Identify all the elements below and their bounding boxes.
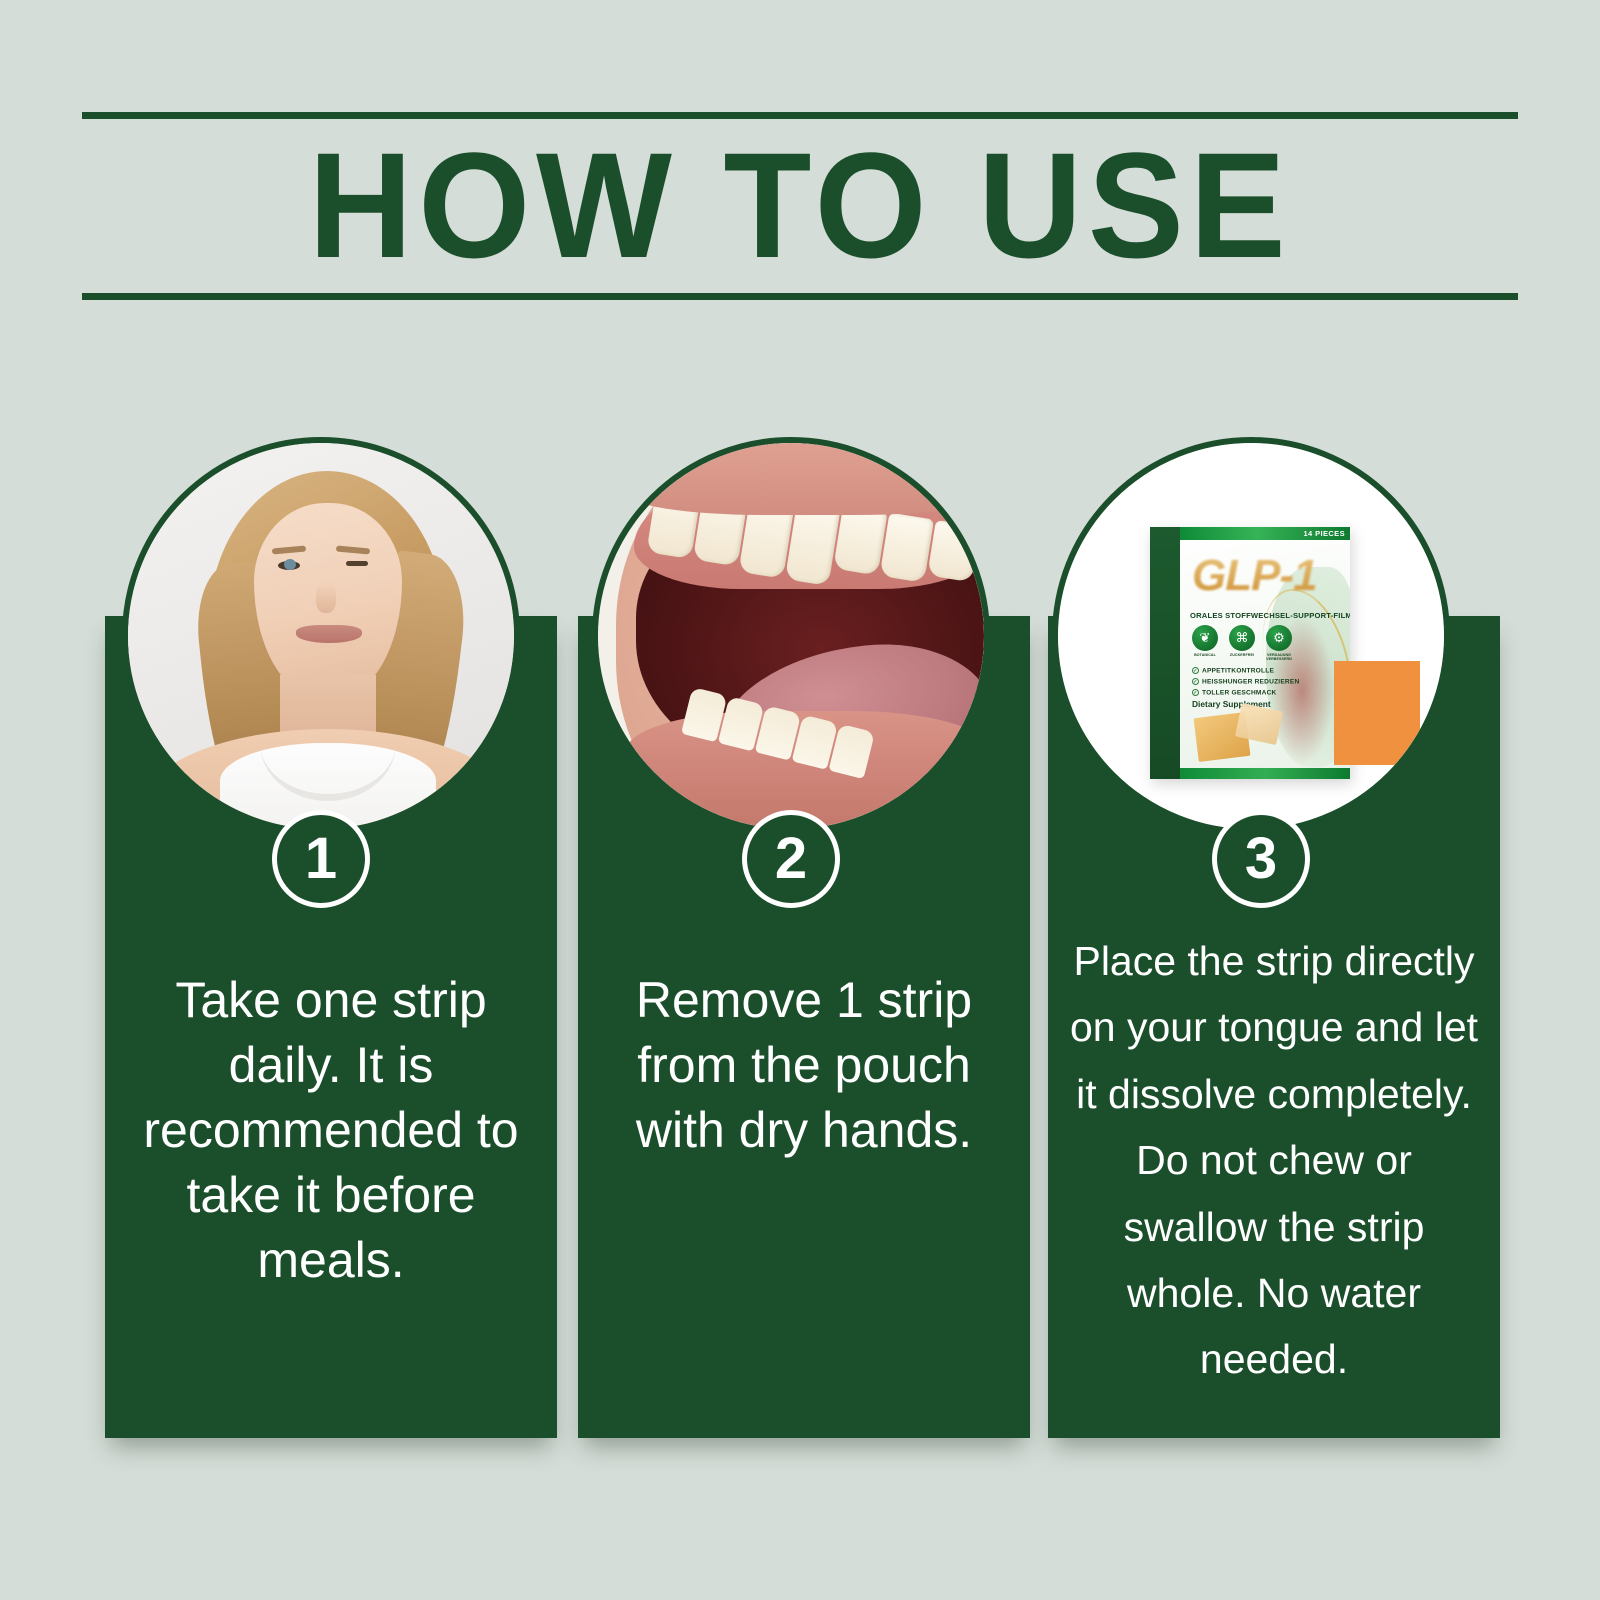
step-1-image — [122, 437, 520, 835]
step-3-text: Place the strip directly on your tongue … — [1048, 928, 1500, 1393]
product-box-illustration: 14 PIECES GLP-1 ORALES STOFFWECHSEL-SUPP… — [1058, 443, 1444, 829]
pieces-count-label: 14 PIECES — [1303, 529, 1345, 538]
leaf-icon: ❦ — [1192, 625, 1218, 651]
tooth — [880, 513, 934, 583]
product-benefit-list: ✓APPETITKONTROLLE ✓HEISSHUNGER REDUZIERE… — [1192, 667, 1299, 699]
step-2-image — [592, 437, 990, 835]
mouth-photo — [598, 443, 984, 829]
product-box-side-panel — [1150, 527, 1180, 779]
check-icon: ✓ — [1192, 667, 1199, 674]
eye-iris — [284, 559, 296, 570]
sugar-free-icon: ⌘ — [1229, 625, 1255, 651]
feature-badge: ❦ BOTANICAL — [1192, 625, 1218, 661]
tooth — [834, 505, 888, 575]
digestion-icon: ⚙ — [1266, 625, 1292, 651]
product-photo: 14 PIECES GLP-1 ORALES STOFFWECHSEL-SUPP… — [1058, 443, 1444, 829]
step-3-image: 14 PIECES GLP-1 ORALES STOFFWECHSEL-SUPP… — [1052, 437, 1450, 835]
product-box-bottom-bar — [1180, 768, 1350, 779]
woman-photo — [128, 443, 514, 829]
benefit-label: APPETITKONTROLLE — [1202, 667, 1274, 674]
step-number-badge-1: 1 — [272, 810, 370, 908]
feature-badge-label: VERDAUUNG VERBESSERN — [1266, 653, 1292, 661]
step-number-badge-2: 2 — [742, 810, 840, 908]
check-icon: ✓ — [1192, 689, 1199, 696]
benefit-label: HEISSHUNGER REDUZIEREN — [1202, 678, 1299, 685]
benefit-label: TOLLER GESCHMACK — [1202, 689, 1277, 696]
check-icon: ✓ — [1192, 678, 1199, 685]
product-box-front-panel: 14 PIECES GLP-1 ORALES STOFFWECHSEL-SUPP… — [1180, 527, 1350, 779]
feature-badge: ⚙ VERDAUUNG VERBESSERN — [1266, 625, 1292, 661]
steps-container: Take one strip daily. It is recommended … — [0, 0, 1600, 1600]
feature-badge: ⌘ ZUCKERFREI — [1229, 625, 1255, 661]
product-box: 14 PIECES GLP-1 ORALES STOFFWECHSEL-SUPP… — [1150, 527, 1350, 779]
benefit-item: ✓APPETITKONTROLLE — [1192, 667, 1299, 674]
nose-shape — [316, 583, 336, 613]
open-mouth-illustration — [598, 443, 984, 829]
orange-strip-swatch — [1334, 661, 1420, 765]
benefit-item: ✓HEISSHUNGER REDUZIEREN — [1192, 678, 1299, 685]
step-2-text: Remove 1 strip from the pouch with dry h… — [578, 968, 1030, 1163]
upper-lip — [628, 443, 984, 515]
tooth — [927, 520, 980, 582]
feature-badge-label: BOTANICAL — [1192, 653, 1218, 657]
product-brand-name: GLP-1 — [1192, 551, 1317, 601]
benefit-item: ✓TOLLER GESCHMACK — [1192, 689, 1299, 696]
product-box-top-bar: 14 PIECES — [1180, 527, 1350, 540]
step-number-badge-3: 3 — [1212, 810, 1310, 908]
product-subtitle: ORALES STOFFWECHSEL-SUPPORT-FILM — [1190, 611, 1342, 620]
feature-badge-label: ZUCKERFREI — [1229, 653, 1255, 657]
step-1-text: Take one strip daily. It is recommended … — [105, 968, 557, 1293]
eye-right-winking — [346, 561, 368, 566]
product-feature-badges: ❦ BOTANICAL ⌘ ZUCKERFREI ⚙ VERDAUUNG VER… — [1192, 625, 1292, 661]
smiling-mouth — [296, 625, 362, 643]
smiling-woman-illustration — [128, 443, 514, 829]
